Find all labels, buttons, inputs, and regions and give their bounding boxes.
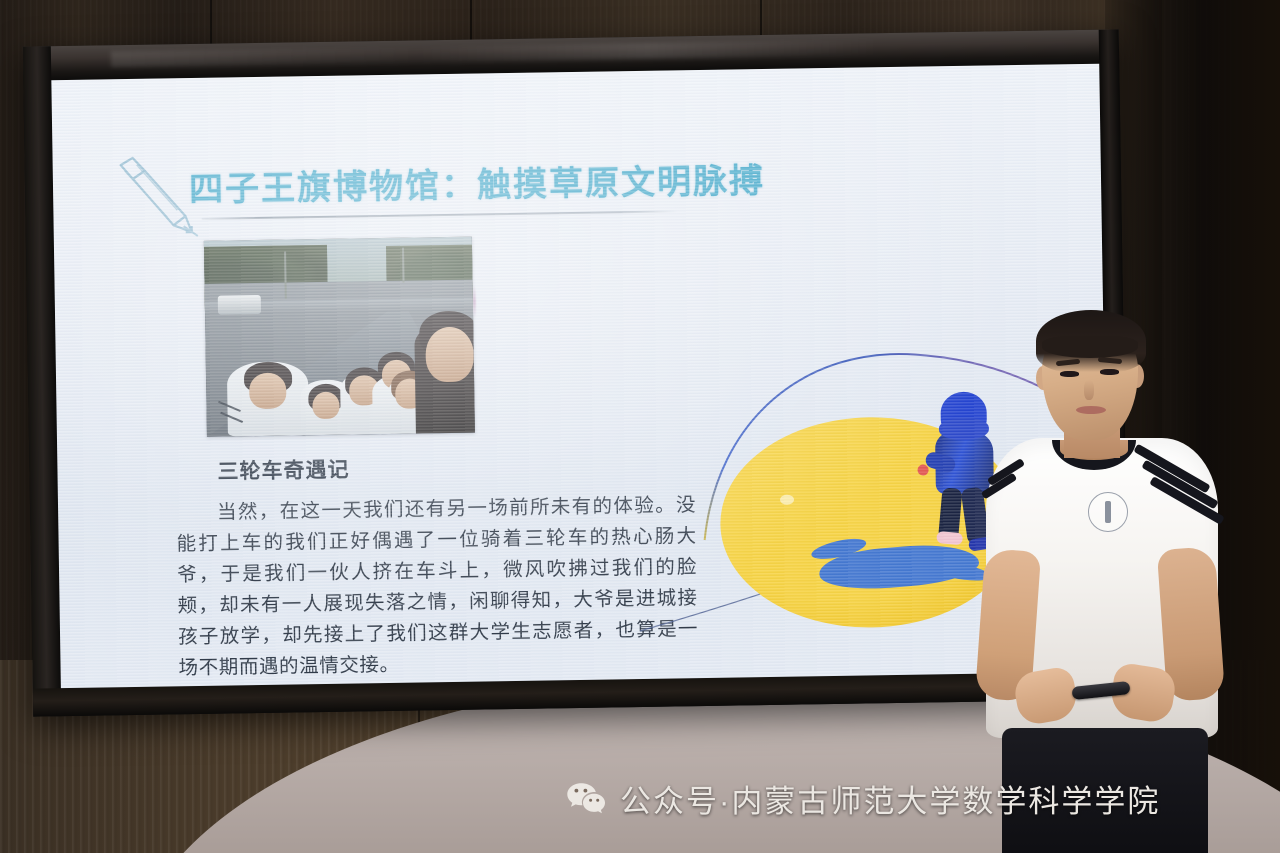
screen-artifact-mark xyxy=(473,286,477,318)
illo-hand xyxy=(917,464,928,475)
illo-shoe-left xyxy=(936,531,963,545)
presenter-mouth xyxy=(1076,406,1106,414)
photo-person-face xyxy=(249,373,287,409)
slide-body-paragraph: 当然，在这一天我们还有另一场前所未有的体验。没能打上车的我们正好偶遇了一位骑着三… xyxy=(176,490,699,684)
lecture-room-scene: 四子王旗博物馆：触摸草原文明脉搏 xyxy=(0,0,1280,853)
wechat-watermark: 公众号·内蒙古师范大学数学科学学院 xyxy=(566,776,1160,821)
presenter-figure xyxy=(980,300,1280,853)
slide-caption: 三轮车奇遇记 xyxy=(217,454,349,486)
presenter-shirt-logo xyxy=(1088,492,1128,532)
watermark-text: 公众号·内蒙古师范大学数学科学学院 xyxy=(620,776,1160,821)
photo-parked-car xyxy=(218,295,261,315)
slide-canvas: 四子王旗博物馆：触摸草原文明脉搏 xyxy=(51,64,1108,688)
presenter-hair-fringe xyxy=(1042,336,1138,358)
photo-person-face xyxy=(425,327,474,383)
presenter-eye-right xyxy=(1100,369,1119,375)
title-underline xyxy=(202,210,678,219)
slide-title: 四子王旗博物馆：触摸草原文明脉搏 xyxy=(189,153,766,211)
presentation-display: 四子王旗博物馆：触摸草原文明脉搏 xyxy=(23,29,1129,716)
presenter-nose xyxy=(1084,380,1094,400)
photo-person-face xyxy=(312,392,339,420)
presenter-eye-left xyxy=(1060,371,1079,377)
slide-body-text: 当然，在这一天我们还有另一场前所未有的体验。没能打上车的我们正好偶遇了一位骑着三… xyxy=(176,490,699,684)
wechat-icon xyxy=(566,782,606,816)
group-selfie-photo xyxy=(204,237,475,437)
